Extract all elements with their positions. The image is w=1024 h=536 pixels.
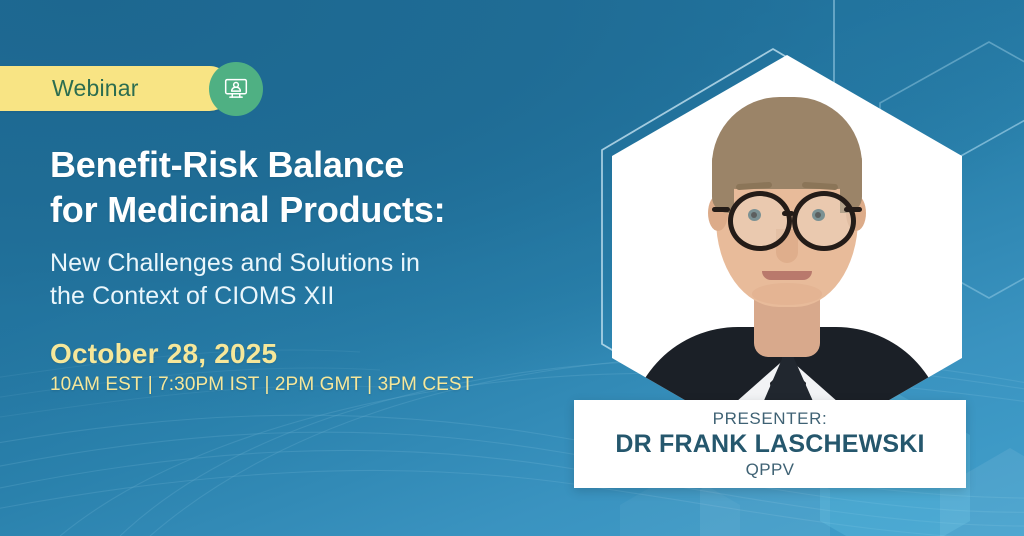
event-date: October 28, 2025 [50,338,277,370]
subtitle-line-2: the Context of CIOMS XII [50,280,570,313]
presenter-photo-frame [612,55,962,459]
presenter-role: QPPV [746,460,795,480]
webinar-badge: Webinar [0,66,232,111]
headline-block: Benefit-Risk Balance for Medicinal Produ… [50,142,570,313]
presenter-kicker: PRESENTER: [713,409,828,429]
event-times: 10AM EST | 7:30PM IST | 2PM GMT | 3PM CE… [50,374,473,396]
webinar-screen-person-icon [209,62,263,116]
headline-line-2: for Medicinal Products: [50,187,570,232]
webinar-badge-label: Webinar [52,75,139,102]
presenter-card: PRESENTER: DR FRANK LASCHEWSKI QPPV [574,400,966,488]
headline-line-1: Benefit-Risk Balance [50,144,404,185]
page-subtitle: New Challenges and Solutions in the Cont… [50,247,570,314]
subtitle-line-1: New Challenges and Solutions in [50,249,420,277]
webinar-promo-banner: Webinar Benefit-Risk Balance for Medicin… [0,0,1024,536]
page-title: Benefit-Risk Balance for Medicinal Produ… [50,142,570,233]
presenter-name: DR FRANK LASCHEWSKI [615,430,924,459]
